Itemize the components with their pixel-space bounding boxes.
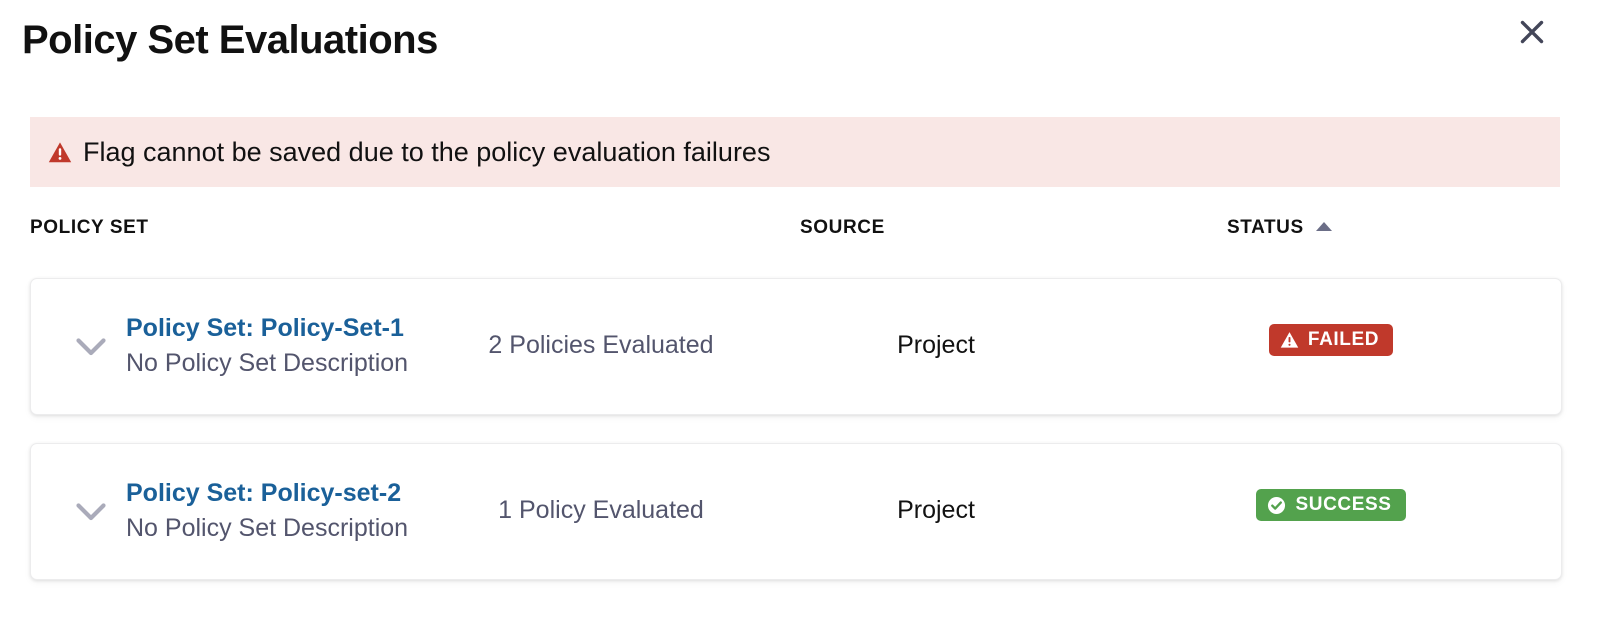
policy-set-info: Policy Set: Policy-Set-1 No Policy Set D… (126, 311, 456, 380)
column-header-status[interactable]: STATUS (1227, 217, 1332, 239)
status-badge: FAILED (1269, 324, 1393, 356)
policy-set-link[interactable]: Policy Set: Policy-set-2 (126, 476, 456, 510)
close-button[interactable] (1514, 14, 1550, 50)
policy-failure-alert: Flag cannot be saved due to the policy e… (30, 117, 1560, 187)
expand-row-toggle[interactable] (71, 492, 111, 532)
check-circle-icon (1267, 496, 1286, 515)
column-header-status-label: STATUS (1227, 217, 1304, 239)
warning-triangle-icon (48, 140, 72, 164)
warning-triangle-icon (1280, 331, 1299, 350)
modal-header: Policy Set Evaluations (0, 0, 1600, 100)
policy-set-info: Policy Set: Policy-set-2 No Policy Set D… (126, 476, 456, 545)
page-title: Policy Set Evaluations (22, 14, 438, 66)
policy-set-description: No Policy Set Description (126, 511, 456, 545)
chevron-down-icon (76, 503, 106, 522)
status-badge-label: FAILED (1308, 329, 1379, 351)
status-cell: SUCCESS (1181, 489, 1481, 521)
status-badge-label: SUCCESS (1295, 494, 1391, 516)
policy-set-source: Project (811, 493, 1061, 527)
triangle-up-icon (1316, 222, 1332, 231)
policies-evaluated-count: 1 Policy Evaluated (451, 493, 751, 527)
policies-evaluated-count: 2 Policies Evaluated (451, 328, 751, 362)
table-header: POLICY SET SOURCE STATUS (0, 217, 1600, 257)
column-header-policy-set[interactable]: POLICY SET (30, 217, 149, 239)
policy-set-source: Project (811, 328, 1061, 362)
status-badge: SUCCESS (1256, 489, 1405, 521)
column-header-source[interactable]: SOURCE (800, 217, 885, 239)
policy-set-description: No Policy Set Description (126, 346, 456, 380)
chevron-down-icon (76, 338, 106, 357)
table-row[interactable]: Policy Set: Policy-set-2 No Policy Set D… (30, 443, 1562, 580)
status-cell: FAILED (1181, 324, 1481, 356)
policy-set-list: Policy Set: Policy-Set-1 No Policy Set D… (0, 278, 1600, 608)
close-icon (1519, 19, 1545, 45)
alert-message: Flag cannot be saved due to the policy e… (83, 136, 770, 168)
table-row[interactable]: Policy Set: Policy-Set-1 No Policy Set D… (30, 278, 1562, 415)
policy-set-link[interactable]: Policy Set: Policy-Set-1 (126, 311, 456, 345)
expand-row-toggle[interactable] (71, 327, 111, 367)
